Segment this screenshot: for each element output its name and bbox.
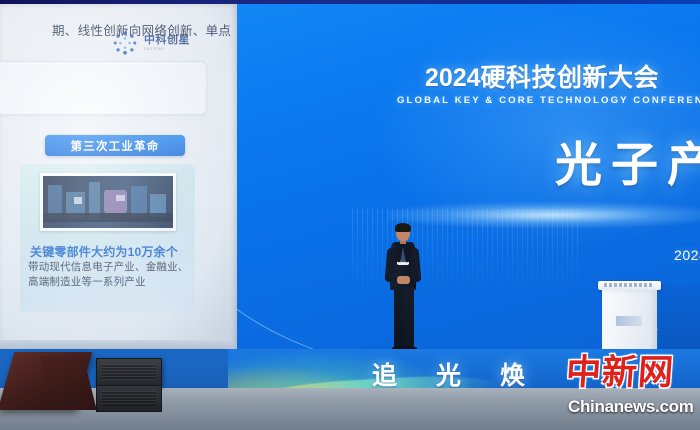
factory-photo	[40, 173, 176, 231]
presenter-person	[384, 224, 422, 352]
conference-stage-photo: 中科创星 CAS STAR 期、线性创新向网络创新、单点 第三次工业革命 关键零…	[0, 0, 700, 430]
conference-title-en: GLOBAL KEY & CORE TECHNOLOGY CONFERENCE	[397, 95, 687, 106]
slide-content-card: 关键零部件大约为10万余个 带动现代信息电子产业、金融业、高端制造业等一系列产业	[20, 164, 195, 312]
conference-lockup: 2024硬科技创新大会 GLOBAL KEY & CORE TECHNOLOGY…	[397, 66, 687, 106]
conference-title-cn: 2024硬科技创新大会	[397, 66, 687, 91]
line-array-speaker-bottom	[96, 385, 162, 412]
slogan-char-2: 光	[436, 356, 462, 392]
lectern	[602, 281, 657, 356]
slide-top-textbox	[0, 61, 207, 115]
slide-card-body: 带动现代信息电子产业、金融业、高端制造业等一系列产业	[28, 260, 196, 290]
watermark-cn: 中新网	[564, 350, 700, 396]
slogan-char-3: 焕	[500, 356, 526, 392]
slide-card-title: 关键零部件大约为10万余个	[30, 243, 190, 260]
summit-headline: 光子产业峰	[555, 141, 700, 188]
chinanews-watermark: 中新网 Chinanews.com	[566, 350, 700, 426]
slide-logo-en: CAS STAR	[144, 48, 190, 51]
slide-section-pill: 第三次工业革命	[45, 135, 185, 156]
slogan-char-1: 追	[372, 356, 398, 392]
wall-right-filler	[658, 285, 700, 350]
watermark-en: Chinanews.com	[568, 397, 694, 417]
event-meta-row: 2024年11月3日 中国·西安	[674, 245, 700, 265]
event-date: 2024年11月3日	[674, 245, 700, 265]
projected-slide-panel: 中科创星 CAS STAR 期、线性创新向网络创新、单点 第三次工业革命 关键零…	[0, 4, 237, 349]
slide-section-pill-label: 第三次工业革命	[71, 138, 160, 154]
conference-year: 2024	[425, 64, 481, 92]
conference-title-cn-text: 硬科技创新大会	[481, 64, 660, 92]
line-array-speaker-top	[96, 358, 162, 386]
slide-top-textbox-label: 期、线性创新向网络创新、单点	[52, 20, 237, 39]
stage-floor-slogan: 追 光 焕	[372, 356, 526, 392]
